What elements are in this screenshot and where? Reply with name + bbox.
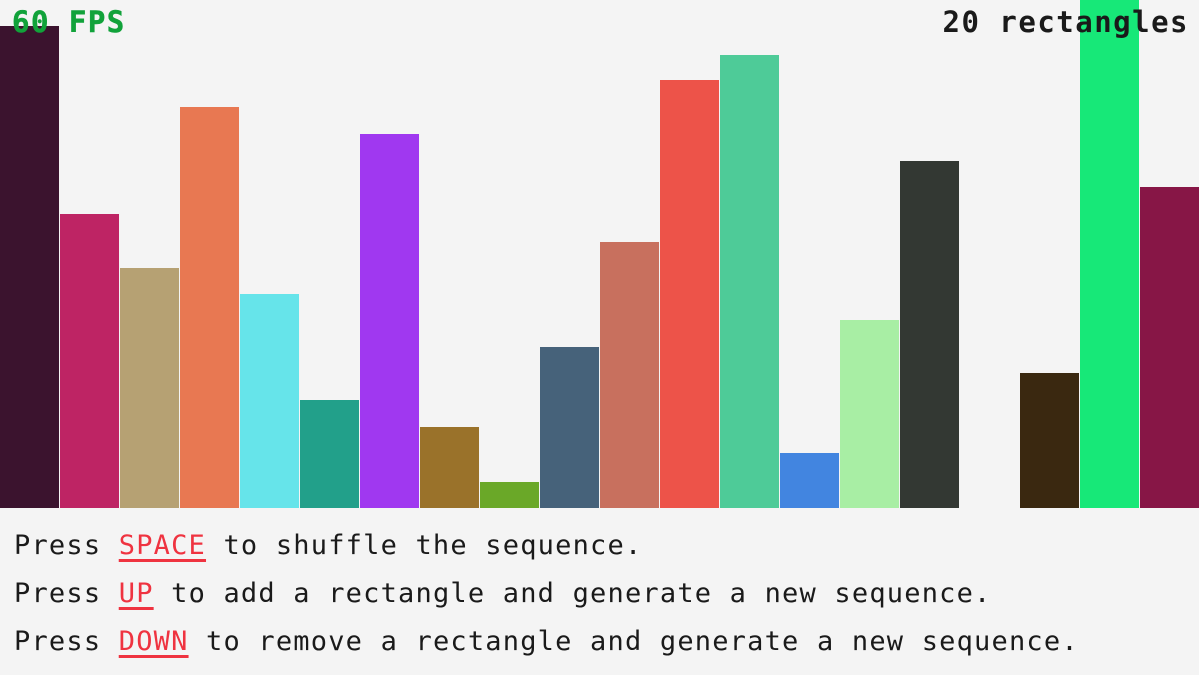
bar-rectangle (120, 268, 179, 508)
bar-rectangle (0, 26, 59, 508)
bar-rectangle (840, 320, 899, 508)
instruction-line: Press SPACE to shuffle the sequence. (14, 522, 1199, 570)
bar-rectangle (180, 107, 239, 508)
rectangle-chart[interactable] (0, 0, 1199, 508)
key-space[interactable]: SPACE (119, 530, 206, 561)
instruction-prefix: Press (14, 578, 119, 609)
bar-rectangle (1140, 187, 1199, 508)
instruction-line: Press DOWN to remove a rectangle and gen… (14, 618, 1199, 666)
instruction-suffix: to add a rectangle and generate a new se… (154, 578, 992, 609)
bar-rectangle (660, 80, 719, 508)
bar-rectangle (540, 347, 599, 508)
key-down[interactable]: DOWN (119, 626, 189, 657)
app-root: 60 FPS 20 rectangles Press SPACE to shuf… (0, 0, 1199, 675)
instruction-line: Press UP to add a rectangle and generate… (14, 570, 1199, 618)
bar-rectangle (1020, 373, 1079, 508)
rectangle-count-label: 20 rectangles (943, 8, 1189, 37)
bar-rectangle (900, 161, 959, 508)
bar-rectangle (780, 453, 839, 508)
bar-rectangle (240, 294, 299, 508)
bar-rectangle (60, 214, 119, 508)
instruction-suffix: to shuffle the sequence. (206, 530, 642, 561)
bar-rectangle (420, 427, 479, 508)
key-up[interactable]: UP (119, 578, 154, 609)
bar-rectangle (720, 55, 779, 508)
instructions-panel: Press SPACE to shuffle the sequence.Pres… (0, 508, 1199, 675)
bar-rectangle (1080, 0, 1139, 508)
bar-rectangle (360, 134, 419, 508)
bar-rectangle (600, 242, 659, 508)
fps-counter: 60 FPS (12, 8, 126, 37)
instruction-suffix: to remove a rectangle and generate a new… (189, 626, 1079, 657)
instruction-prefix: Press (14, 530, 119, 561)
instruction-prefix: Press (14, 626, 119, 657)
bar-rectangle (300, 400, 359, 508)
bar-rectangle (480, 482, 539, 508)
